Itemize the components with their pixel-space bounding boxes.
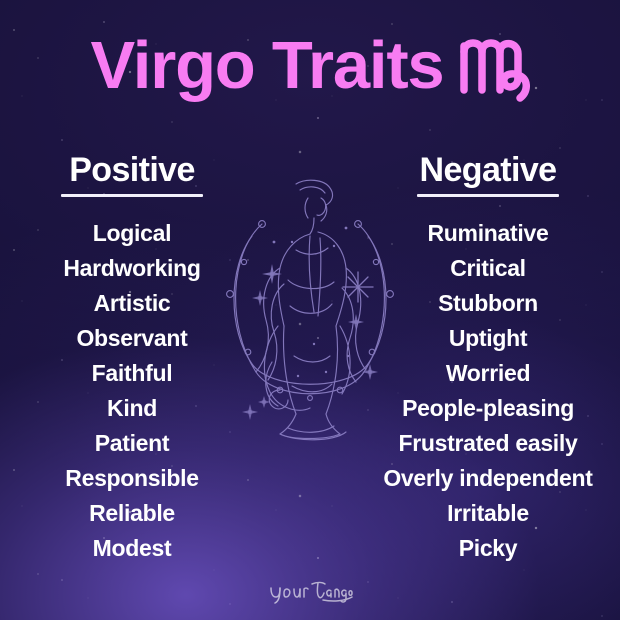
- trait-item: Observant: [0, 321, 266, 356]
- negative-heading-underline: [417, 194, 559, 197]
- trait-item: Stubborn: [354, 286, 620, 321]
- positive-heading-underline: [61, 194, 203, 197]
- trait-item: Logical: [0, 216, 266, 251]
- trait-item: Frustrated easily: [354, 426, 620, 461]
- trait-item: Modest: [0, 531, 266, 566]
- trait-item: Faithful: [0, 356, 266, 391]
- trait-item: Irritable: [354, 496, 620, 531]
- trait-item: People-pleasing: [354, 391, 620, 426]
- negative-traits-list: Ruminative Critical Stubborn Uptight Wor…: [354, 216, 620, 566]
- trait-item: Overly independent: [354, 461, 620, 496]
- positive-traits-list: Logical Hardworking Artistic Observant F…: [0, 216, 266, 566]
- trait-item: Uptight: [354, 321, 620, 356]
- trait-item: Ruminative: [354, 216, 620, 251]
- trait-item: Worried: [354, 356, 620, 391]
- page-title-text: Virgo Traits: [91, 32, 444, 99]
- virgo-traits-graphic: Virgo Traits: [0, 0, 620, 620]
- trait-item: Picky: [354, 531, 620, 566]
- virgo-glyph-icon: [458, 28, 530, 106]
- traits-columns: Positive Logical Hardworking Artistic Ob…: [0, 152, 620, 566]
- positive-column-heading: Positive: [69, 152, 195, 189]
- trait-item: Kind: [0, 391, 266, 426]
- negative-column-heading: Negative: [420, 152, 557, 189]
- positive-traits-column: Positive Logical Hardworking Artistic Ob…: [0, 152, 266, 566]
- trait-item: Patient: [0, 426, 266, 461]
- trait-item: Hardworking: [0, 251, 266, 286]
- trait-item: Reliable: [0, 496, 266, 531]
- trait-item: Responsible: [0, 461, 266, 496]
- trait-item: Critical: [354, 251, 620, 286]
- page-title: Virgo Traits: [0, 24, 620, 106]
- trait-item: Artistic: [0, 286, 266, 321]
- negative-traits-column: Negative Ruminative Critical Stubborn Up…: [354, 152, 620, 566]
- yourtango-logo: [0, 580, 620, 606]
